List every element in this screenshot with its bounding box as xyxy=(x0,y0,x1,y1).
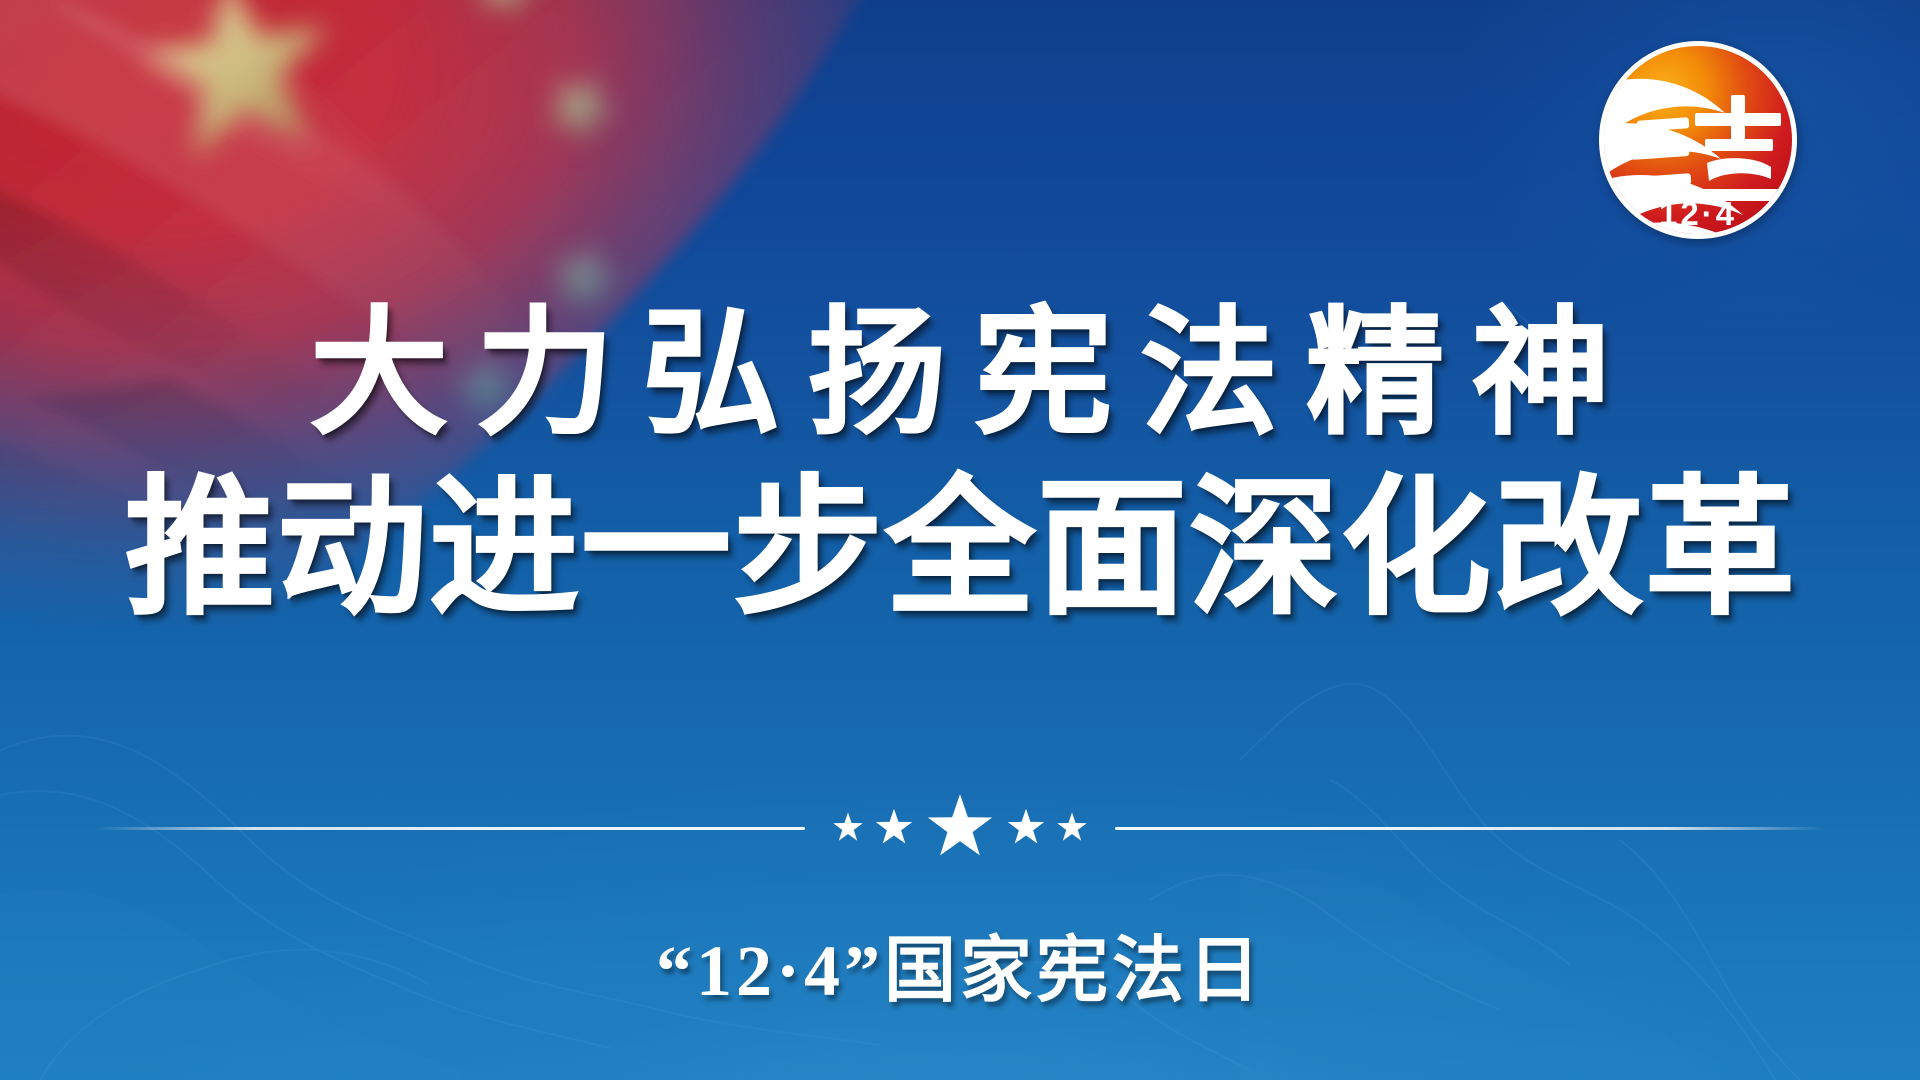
star-icon xyxy=(923,791,997,865)
poster-root: 12·4 大力弘扬宪法精神 推动进一步全面深化改革 xyxy=(0,0,1920,1080)
star-icon xyxy=(831,811,865,845)
headline-line-1: 大力弘扬宪法精神 xyxy=(0,300,1920,448)
divider-rule-left xyxy=(95,827,805,830)
national-constitution-day-emblem: 12·4 xyxy=(1595,35,1801,250)
divider-rule-right xyxy=(1115,827,1825,830)
emblem-date-label: 12·4 xyxy=(1659,195,1737,232)
subtitle-text: “12·4”国家宪法日 xyxy=(0,925,1920,1017)
divider-star-group xyxy=(805,791,1115,865)
star-icon xyxy=(873,807,915,849)
star-divider xyxy=(0,780,1920,876)
headline-block: 大力弘扬宪法精神 推动进一步全面深化改革 xyxy=(0,300,1920,630)
star-icon xyxy=(1055,811,1089,845)
headline-line-2: 推动进一步全面深化改革 xyxy=(0,466,1920,630)
star-icon xyxy=(1005,807,1047,849)
